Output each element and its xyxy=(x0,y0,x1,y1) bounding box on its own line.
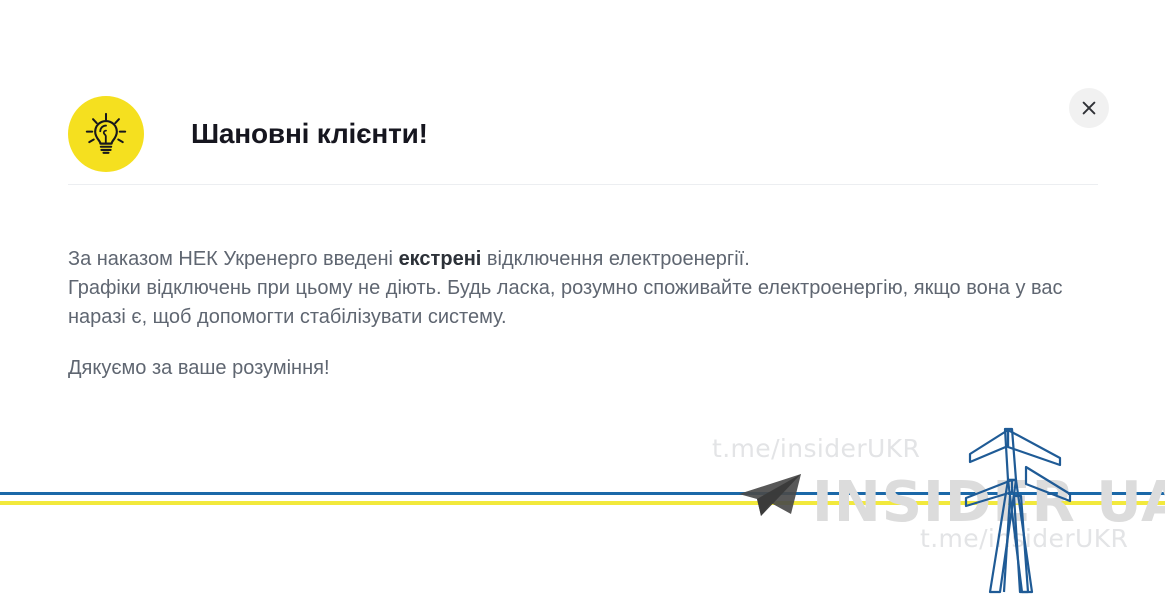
paragraph-spacer xyxy=(68,332,1088,354)
watermark-channel-top: t.me/insiderUKR xyxy=(712,434,920,463)
lightbulb-icon xyxy=(68,96,144,172)
notice-paragraph-2: Графіки відключень при цьому не діють. Б… xyxy=(68,274,1088,332)
notice-text-part-1: За наказом НЕК Укренерго введені xyxy=(68,248,399,270)
power-transmission-tower-icon xyxy=(948,420,1098,602)
close-icon xyxy=(1081,100,1097,116)
notice-text-part-2: відключення електроенергії. xyxy=(481,248,749,270)
notice-text-emphasis: екстрені xyxy=(399,248,482,270)
notice-paragraph-1: За наказом НЕК Укренерго введені екстрен… xyxy=(68,245,1088,274)
close-button[interactable] xyxy=(1069,88,1109,128)
page-title: Шановні клієнти! xyxy=(191,118,428,150)
notice-header: Шановні клієнти! xyxy=(68,88,1098,185)
page-root: Шановні клієнти! За наказом НЕК Укренерг… xyxy=(0,0,1165,602)
telegram-plane-icon xyxy=(735,470,803,520)
notice-body: За наказом НЕК Укренерго введені екстрен… xyxy=(68,245,1088,383)
notice-paragraph-3: Дякуємо за ваше розуміння! xyxy=(68,354,1088,383)
notice-modal: Шановні клієнти! За наказом НЕК Укренерг… xyxy=(0,0,1165,602)
